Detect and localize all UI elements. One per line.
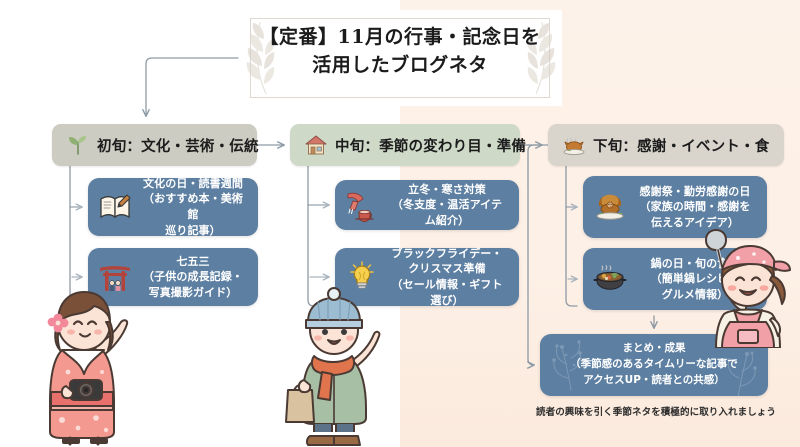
woman-cook-with-ladle-illustration [694, 218, 798, 348]
topic-card-winter-prep[interactable]: 立冬・寒さ対策 （冬支度・温活アイテム紹介） [335, 180, 519, 230]
page-title: 【定番】11月の行事・記念日を 活用したブログネタ [244, 24, 556, 79]
girl-in-kimono-with-camera-illustration [18, 272, 150, 447]
topic-card-text: 立冬・寒さ対策 （冬支度・温活アイテム紹介） [387, 182, 507, 229]
topic-card-line2: （冬支度・温活アイテム紹介） [387, 197, 507, 228]
topic-card-line3: 写真撮影ガイド） [140, 285, 246, 301]
topic-card-text: 文化の日・読書週間 （おすすめ本・美術館 巡り記事） [140, 176, 246, 238]
topic-card-culture-day[interactable]: 文化の日・読書週間 （おすすめ本・美術館 巡り記事） [88, 178, 258, 236]
summary-line2: （季節感のあるタイムリーな記事で [570, 357, 738, 373]
phase-header-late-november[interactable]: 下旬：感謝・イベント・食 [548, 124, 784, 166]
topic-card-text: 七五三 （子供の成長記録・ 写真撮影ガイド） [140, 254, 246, 301]
house-icon [304, 133, 328, 157]
topic-card-line1: ブラックフライデー・ [387, 246, 507, 262]
topic-card-line3: （セール情報・ギフト選び） [387, 277, 507, 308]
scarf-hotdrink-icon [345, 188, 379, 222]
phase-header-label: 中旬：季節の変わり目・準備 [335, 135, 526, 156]
topic-card-line2: （家族の時間・感謝を [635, 199, 755, 215]
summary-card-text: まとめ・成果 （季節感のあるタイムリーな記事で アクセスUP・読者との共感） [540, 334, 768, 396]
summary-line3: アクセスUP・読者との共感） [583, 373, 725, 389]
topic-card-line1: 七五三 [140, 254, 246, 270]
topic-card-line2: クリスマス準備 [387, 261, 507, 277]
turkey-platter-icon [593, 190, 627, 224]
footer-note: 読者の興味を引く季節ネタを積極的に取り入れましょう [536, 404, 776, 418]
phase-header-mid-november[interactable]: 中旬：季節の変わり目・準備 [290, 124, 520, 166]
summary-line1: まとめ・成果 [623, 341, 686, 357]
infographic-canvas: 【定番】11月の行事・記念日を 活用したブログネタ [0, 0, 800, 447]
seedling-icon [66, 133, 90, 157]
phase-header-label: 初旬：文化・芸術・伝統 [97, 135, 259, 156]
topic-card-line3: 巡り記事） [140, 223, 246, 239]
page-title-line1: 【定番】11月の行事・記念日を [244, 24, 556, 52]
summary-card[interactable]: まとめ・成果 （季節感のあるタイムリーな記事で アクセスUP・読者との共感） [540, 334, 768, 396]
topic-card-text: ブラックフライデー・ クリスマス準備 （セール情報・ギフト選び） [387, 246, 507, 308]
roast-turkey-icon [562, 133, 586, 157]
open-book-pen-icon [98, 190, 132, 224]
topic-card-line1: 文化の日・読書週間 [140, 176, 246, 192]
topic-card-line2: （おすすめ本・美術館 [140, 191, 246, 222]
topic-card-line1: 立冬・寒さ対策 [387, 182, 507, 198]
phase-header-early-november[interactable]: 初旬：文化・芸術・伝統 [52, 124, 257, 166]
boy-in-winter-clothes-illustration [278, 282, 394, 447]
page-title-line2: 活用したブログネタ [244, 52, 556, 80]
topic-card-line1: 感謝祭・勤労感謝の日 [635, 184, 755, 200]
phase-header-label: 下旬：感謝・イベント・食 [593, 135, 769, 156]
hotpot-icon [593, 262, 627, 296]
topic-card-line2: （子供の成長記録・ [140, 269, 246, 285]
